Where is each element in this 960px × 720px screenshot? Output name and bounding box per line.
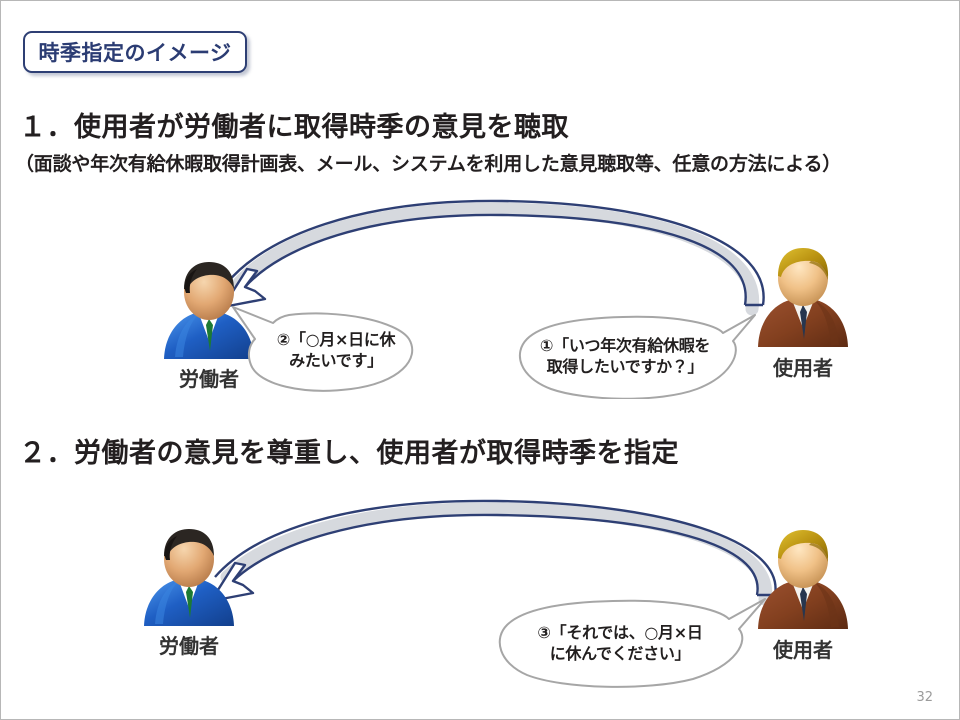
speech-bubble-2-line-2: みたいです」: [289, 350, 383, 371]
speech-bubble-3-line-2: に休んでください」: [550, 643, 691, 664]
speech-bubble-3-text: ③「それでは、○月×日 に休んでください」: [493, 597, 769, 689]
worker-avatar-icon: [137, 526, 241, 632]
speech-bubble-2: ②「○月×日に休 みたいです」: [229, 305, 421, 395]
speech-bubble-3: ③「それでは、○月×日 に休んでください」: [493, 597, 769, 689]
employer-avatar-icon: [751, 244, 855, 354]
section-1-subtitle: （面談や年次有給休暇取得計画表、メール、システムを利用した意見聴取等、任意の方法…: [15, 149, 841, 176]
speech-bubble-1-line-1: ①「いつ年次有給休暇を: [540, 335, 710, 356]
figure-employer-1: 使用者: [743, 244, 863, 381]
speech-bubble-2-text: ②「○月×日に休 みたいです」: [229, 305, 421, 395]
slide-title-text: 時季指定のイメージ: [38, 37, 231, 67]
speech-bubble-3-line-1: ③「それでは、○月×日: [537, 622, 702, 643]
slide-title-badge: 時季指定のイメージ: [23, 31, 247, 73]
section-2-heading: ２．労働者の意見を尊重し、使用者が取得時季を指定: [19, 431, 679, 470]
slide-canvas: 時季指定のイメージ １．使用者が労働者に取得時季の意見を聴取 （面談や年次有給休…: [0, 0, 960, 720]
worker-label-2: 労働者: [129, 630, 249, 659]
employer-label-1: 使用者: [743, 352, 863, 381]
speech-bubble-1-line-2: 取得したいですか？」: [547, 356, 704, 377]
speech-bubble-1: ①「いつ年次有給休暇を 取得したいですか？」: [511, 313, 759, 399]
page-number: 32: [916, 690, 933, 705]
figure-worker-2: 労働者: [129, 526, 249, 659]
speech-bubble-1-text: ①「いつ年次有給休暇を 取得したいですか？」: [511, 313, 759, 399]
section-1-heading: １．使用者が労働者に取得時季の意見を聴取: [19, 105, 569, 144]
speech-bubble-2-line-1: ②「○月×日に休: [277, 329, 396, 350]
